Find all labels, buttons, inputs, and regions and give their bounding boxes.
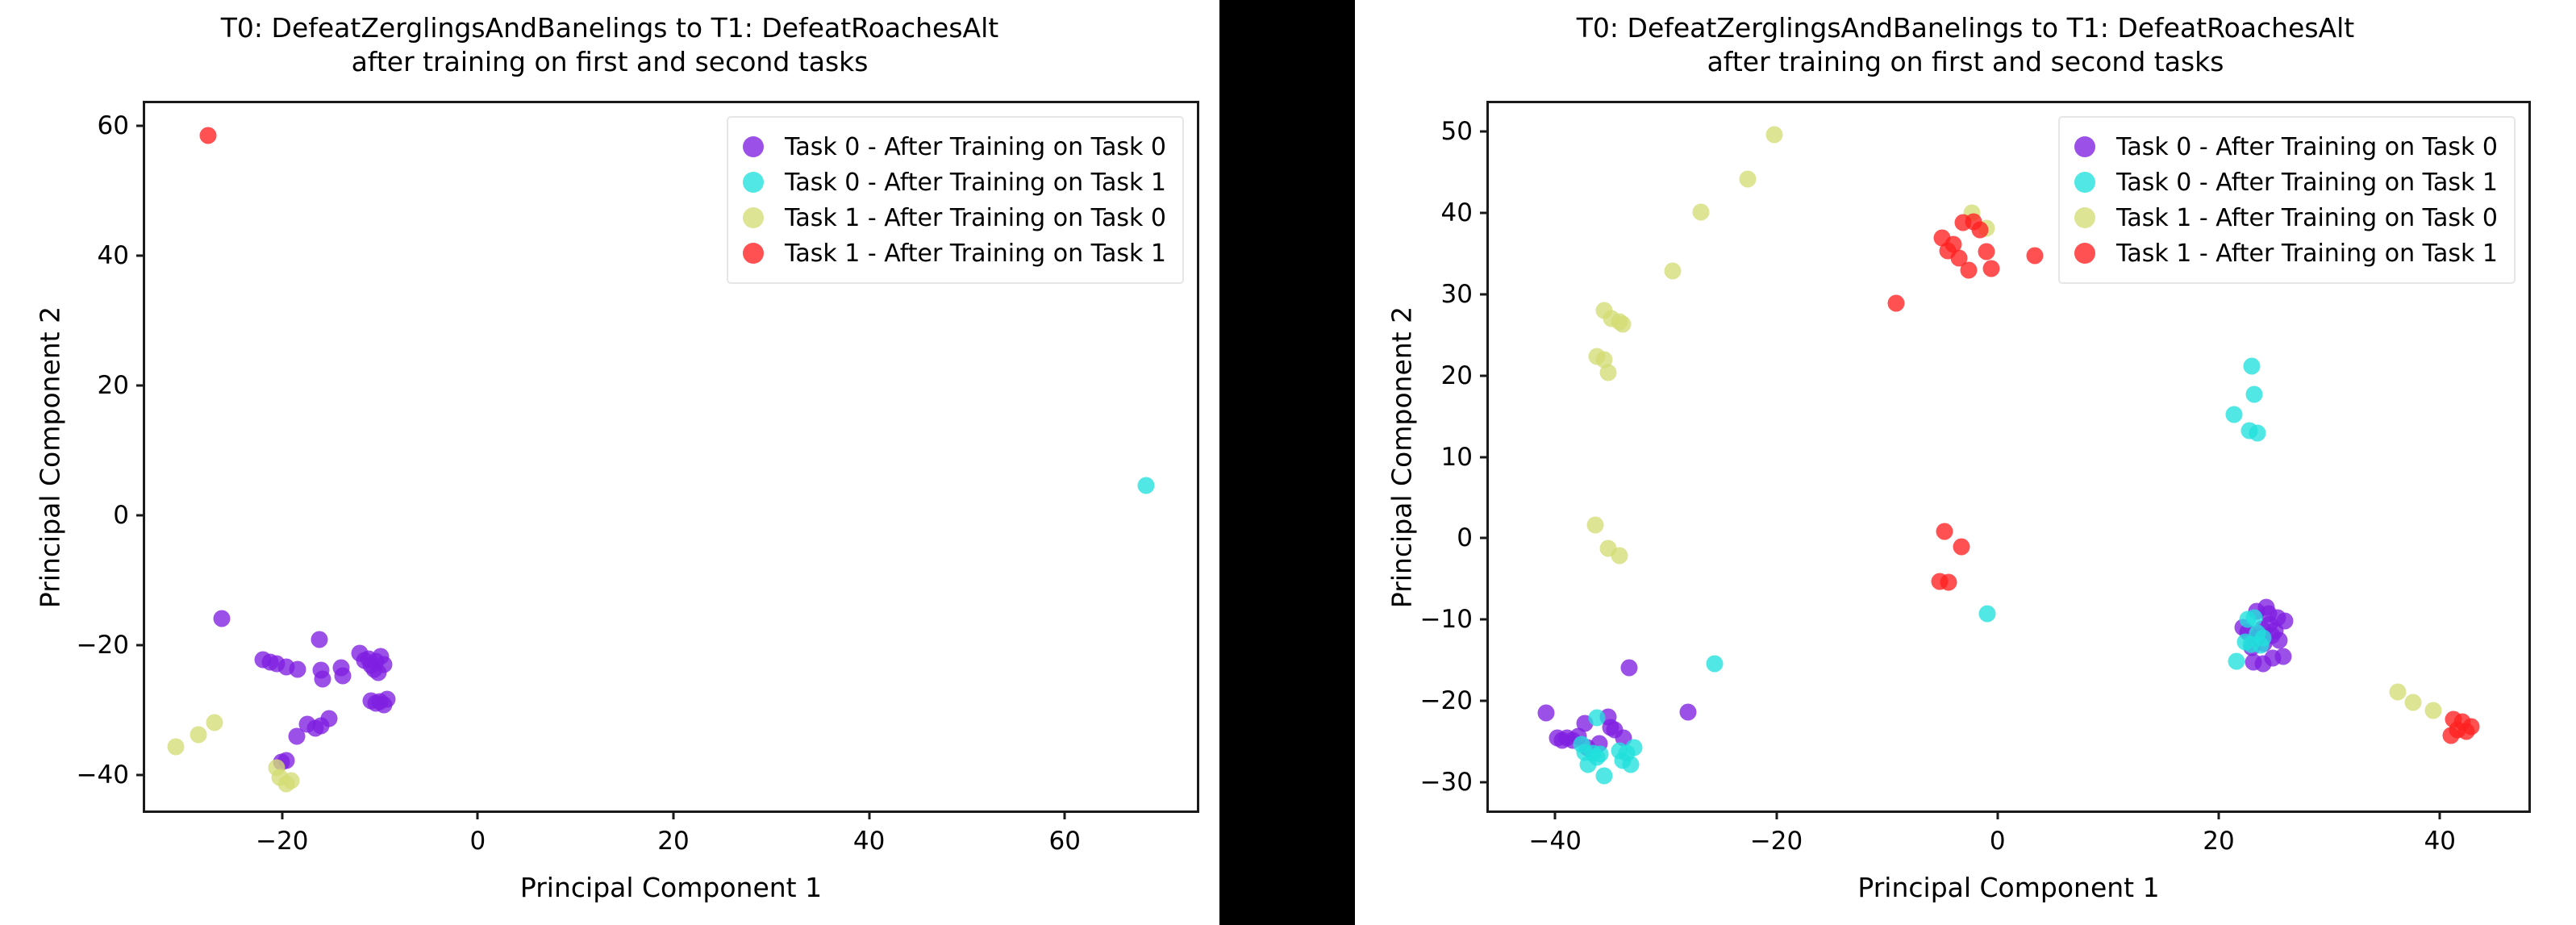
data-point: [1961, 261, 1978, 278]
y-tick-left: [136, 644, 145, 646]
data-point: [1971, 222, 1988, 239]
data-point: [2443, 727, 2460, 744]
y-tick-label-left: −20: [77, 631, 129, 660]
data-point: [1595, 767, 1612, 784]
data-point: [1679, 704, 1696, 721]
legend-marker-icon: [2074, 243, 2095, 264]
y-axis-label-left: Principal Component 2: [35, 306, 66, 607]
data-point: [2274, 648, 2291, 665]
legend-item[interactable]: Task 0 - After Training on Task 1: [2074, 165, 2498, 200]
data-point: [1614, 316, 1631, 333]
data-point: [1979, 606, 1996, 623]
y-tick-label-left: 0: [113, 501, 129, 530]
legend-item[interactable]: Task 1 - After Training on Task 1: [2074, 235, 2498, 271]
x-axis-label-right: Principal Component 1: [1857, 872, 2159, 903]
legend-marker-icon: [743, 207, 764, 228]
x-tick-label-right: 0: [1990, 827, 2006, 856]
y-tick-label-left: −40: [77, 760, 129, 790]
y-tick-label-left: 40: [98, 241, 129, 270]
y-tick-right: [1480, 781, 1489, 783]
data-point: [378, 691, 395, 708]
data-point: [1625, 740, 1642, 756]
y-tick-label-right: −20: [1420, 686, 1473, 715]
y-tick-left: [136, 514, 145, 516]
legend-marker-icon: [743, 172, 764, 193]
legend-item[interactable]: Task 0 - After Training on Task 1: [743, 165, 1166, 200]
x-tick-label-left: 0: [470, 827, 486, 856]
data-point: [1739, 170, 1756, 187]
data-point: [2245, 653, 2261, 670]
data-point: [375, 656, 392, 673]
x-tick-label-left: 40: [853, 827, 885, 856]
legend-left[interactable]: Task 0 - After Training on Task 0Task 0 …: [727, 116, 1184, 284]
data-point: [2245, 385, 2262, 402]
data-point: [2425, 702, 2442, 719]
legend-marker-icon: [2074, 136, 2095, 157]
legend-item[interactable]: Task 0 - After Training on Task 0: [2074, 129, 2498, 165]
data-point: [1592, 746, 1609, 763]
screenshot-canvas: T0: DefeatZerglingsAndBanelings to T1: D…: [0, 0, 2576, 925]
x-tick-left: [1064, 810, 1066, 819]
data-point: [167, 739, 184, 756]
data-point: [311, 631, 327, 648]
legend-label: Task 0 - After Training on Task 0: [785, 133, 1166, 161]
data-point: [290, 661, 306, 678]
y-tick-right: [1480, 131, 1489, 133]
y-tick-label-right: 20: [1441, 361, 1473, 390]
data-point: [2249, 425, 2266, 442]
figure-separator-band: [1219, 0, 1355, 925]
x-tick-right: [2218, 810, 2220, 819]
data-point: [2027, 247, 2044, 264]
y-tick-right: [1480, 537, 1489, 540]
data-point: [2271, 632, 2288, 649]
y-tick-right: [1480, 456, 1489, 458]
legend-item[interactable]: Task 1 - After Training on Task 0: [743, 200, 1166, 235]
x-tick-label-right: 40: [2424, 827, 2456, 856]
data-point: [314, 670, 331, 687]
legend-label: Task 1 - After Training on Task 0: [785, 204, 1166, 232]
data-point: [2390, 683, 2407, 700]
data-point: [2405, 694, 2422, 710]
data-point: [1137, 477, 1154, 494]
data-point: [2245, 610, 2262, 627]
legend-item[interactable]: Task 0 - After Training on Task 0: [743, 129, 1166, 165]
y-tick-right: [1480, 619, 1489, 621]
data-point: [1600, 364, 1617, 381]
y-tick-right: [1480, 374, 1489, 377]
data-point: [1586, 517, 1603, 534]
data-point: [1887, 294, 1904, 311]
legend-item[interactable]: Task 1 - After Training on Task 0: [2074, 200, 2498, 235]
plot-area-left: −40−200204060−200204060Principal Compone…: [143, 101, 1199, 813]
data-point: [335, 668, 352, 685]
legend-item[interactable]: Task 1 - After Training on Task 1: [743, 235, 1166, 271]
chart-title-left: T0: DefeatZerglingsAndBanelings to T1: D…: [0, 11, 1219, 78]
data-point: [1936, 523, 1953, 540]
legend-label: Task 1 - After Training on Task 1: [785, 240, 1166, 268]
data-point: [206, 714, 223, 731]
y-tick-left: [136, 255, 145, 257]
y-tick-label-right: 30: [1441, 280, 1473, 309]
data-point: [2228, 652, 2245, 669]
x-tick-left: [281, 810, 283, 819]
data-point: [1940, 573, 1957, 590]
plot-area-right: −30−20−1001020304050−40−2002040Principal…: [1486, 101, 2531, 813]
x-tick-right: [2439, 810, 2441, 819]
legend-label: Task 0 - After Training on Task 0: [2116, 133, 2498, 161]
legend-marker-icon: [2074, 207, 2095, 228]
y-tick-label-right: 0: [1457, 523, 1473, 552]
x-tick-label-left: 20: [657, 827, 689, 856]
data-point: [1622, 756, 1639, 773]
x-tick-left: [673, 810, 675, 819]
legend-label: Task 1 - After Training on Task 1: [2116, 240, 2498, 268]
data-point: [2462, 719, 2479, 735]
y-tick-label-right: 50: [1441, 117, 1473, 146]
legend-marker-icon: [743, 136, 764, 157]
data-point: [2244, 357, 2261, 374]
legend-right[interactable]: Task 0 - After Training on Task 0Task 0 …: [2058, 116, 2516, 284]
y-tick-left: [136, 384, 145, 386]
x-tick-label-right: 20: [2203, 827, 2234, 856]
x-tick-left: [477, 810, 479, 819]
x-tick-right: [1775, 810, 1778, 819]
y-tick-label-right: 40: [1441, 198, 1473, 227]
y-tick-label-left: 20: [98, 371, 129, 400]
data-point: [1664, 262, 1681, 279]
y-tick-left: [136, 125, 145, 127]
y-tick-label-right: −30: [1420, 768, 1473, 797]
data-point: [213, 610, 230, 627]
legend-label: Task 1 - After Training on Task 0: [2116, 204, 2498, 232]
data-point: [1538, 705, 1555, 722]
data-point: [1765, 127, 1782, 144]
y-tick-label-right: 10: [1441, 443, 1473, 472]
data-point: [1611, 548, 1628, 565]
figure-right: T0: DefeatZerglingsAndBanelings to T1: D…: [1355, 0, 2576, 925]
x-tick-label-right: −20: [1750, 827, 1803, 856]
y-axis-label-right: Principal Component 2: [1386, 306, 1418, 607]
x-tick-label-right: −40: [1529, 827, 1582, 856]
x-axis-label-left: Principal Component 1: [520, 872, 822, 903]
y-tick-label-right: −10: [1420, 605, 1473, 634]
data-point: [282, 772, 299, 789]
legend-label: Task 0 - After Training on Task 1: [2116, 169, 2498, 197]
x-tick-right: [1996, 810, 1999, 819]
x-tick-label-left: 60: [1049, 827, 1081, 856]
x-tick-left: [868, 810, 870, 819]
legend-marker-icon: [2074, 172, 2095, 193]
y-tick-label-left: 60: [98, 111, 129, 140]
legend-marker-icon: [743, 243, 764, 264]
data-point: [1953, 539, 1970, 556]
data-point: [1589, 710, 1606, 727]
data-point: [1706, 655, 1723, 672]
legend-label: Task 0 - After Training on Task 1: [785, 169, 1166, 197]
y-tick-right: [1480, 212, 1489, 215]
chart-title-right: T0: DefeatZerglingsAndBanelings to T1: D…: [1355, 11, 2576, 78]
data-point: [1693, 204, 1710, 221]
y-tick-right: [1480, 293, 1489, 295]
data-point: [1982, 260, 1999, 277]
data-point: [2226, 406, 2243, 423]
data-point: [2277, 613, 2294, 630]
x-tick-label-left: −20: [256, 827, 308, 856]
data-point: [199, 127, 216, 144]
y-tick-left: [136, 773, 145, 776]
data-point: [289, 728, 306, 745]
data-point: [2254, 630, 2271, 647]
data-point: [1978, 244, 1995, 260]
data-point: [1621, 659, 1638, 676]
data-point: [190, 726, 206, 743]
x-tick-right: [1554, 810, 1557, 819]
y-tick-right: [1480, 699, 1489, 702]
figure-left: T0: DefeatZerglingsAndBanelings to T1: D…: [0, 0, 1219, 925]
